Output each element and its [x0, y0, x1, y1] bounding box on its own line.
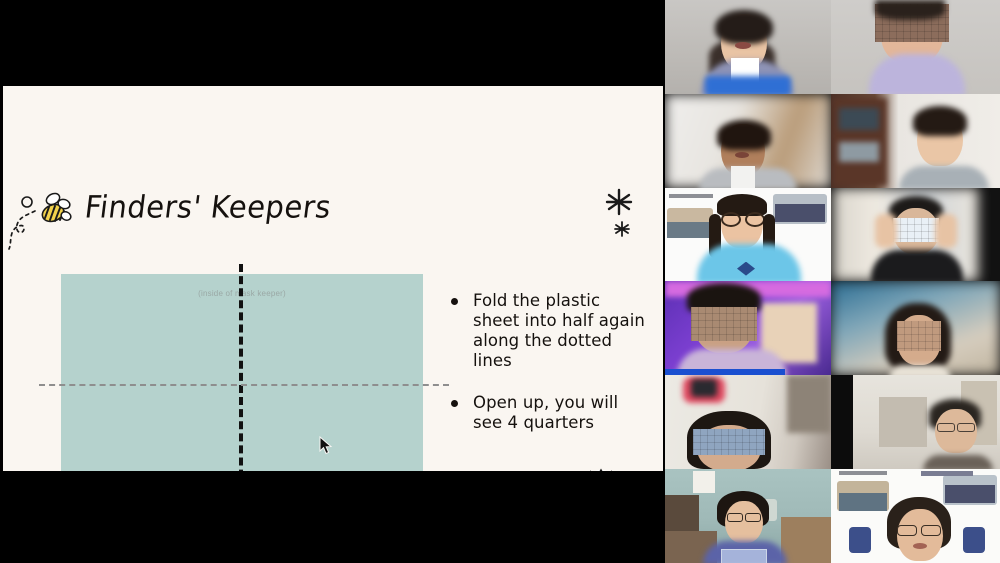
participant-tile[interactable] — [831, 375, 1000, 469]
daisy-flowers-decoration — [577, 458, 653, 471]
participant-tile[interactable] — [831, 188, 1000, 282]
mouse-pointer — [319, 436, 333, 456]
fold-line-vertical — [239, 264, 243, 471]
participant-tile[interactable] — [831, 281, 1000, 375]
shared-screen-region: Finders' Keepers — [0, 0, 665, 563]
daisy-flowers-icon — [577, 458, 653, 471]
participant-grid — [665, 0, 1000, 563]
circle-outline-icon — [22, 197, 32, 207]
presentation-slide: Finders' Keepers — [3, 86, 663, 471]
slide-bullet-list: Fold the plastic sheet into half again a… — [451, 291, 651, 455]
bee-body — [40, 191, 72, 224]
participant-tile[interactable] — [665, 94, 831, 188]
participant-tile[interactable] — [665, 188, 831, 282]
participant-tile[interactable] — [831, 94, 1000, 188]
bullet-text: Fold the plastic sheet into half again a… — [473, 291, 651, 371]
bee-decoration-group — [9, 189, 79, 264]
slide-title: Finders' Keepers — [83, 189, 333, 225]
participant-tile[interactable] — [831, 469, 1000, 563]
participant-tile[interactable] — [665, 0, 831, 94]
participant-tile[interactable] — [665, 469, 831, 563]
list-item: Fold the plastic sheet into half again a… — [451, 291, 651, 371]
participant-tile[interactable] — [665, 375, 831, 469]
screen: Finders' Keepers — [0, 0, 1000, 563]
dotted-trail-icon — [9, 211, 35, 249]
star-decoration-top-right — [601, 186, 645, 246]
participant-tile[interactable] — [665, 281, 831, 375]
daisy-petals-1 — [582, 470, 620, 471]
asterisk-star-icon — [607, 190, 631, 214]
list-item: Open up, you will see 4 quarters — [451, 393, 651, 433]
bee-icon — [9, 189, 79, 264]
bullet-dot-icon — [451, 298, 458, 305]
participant-tile[interactable] — [831, 0, 1000, 94]
bullet-text: Open up, you will see 4 quarters — [473, 393, 651, 433]
fold-line-horizontal — [39, 384, 449, 386]
bullet-dot-icon — [451, 400, 458, 407]
asterisk-star-small-icon — [615, 222, 629, 236]
